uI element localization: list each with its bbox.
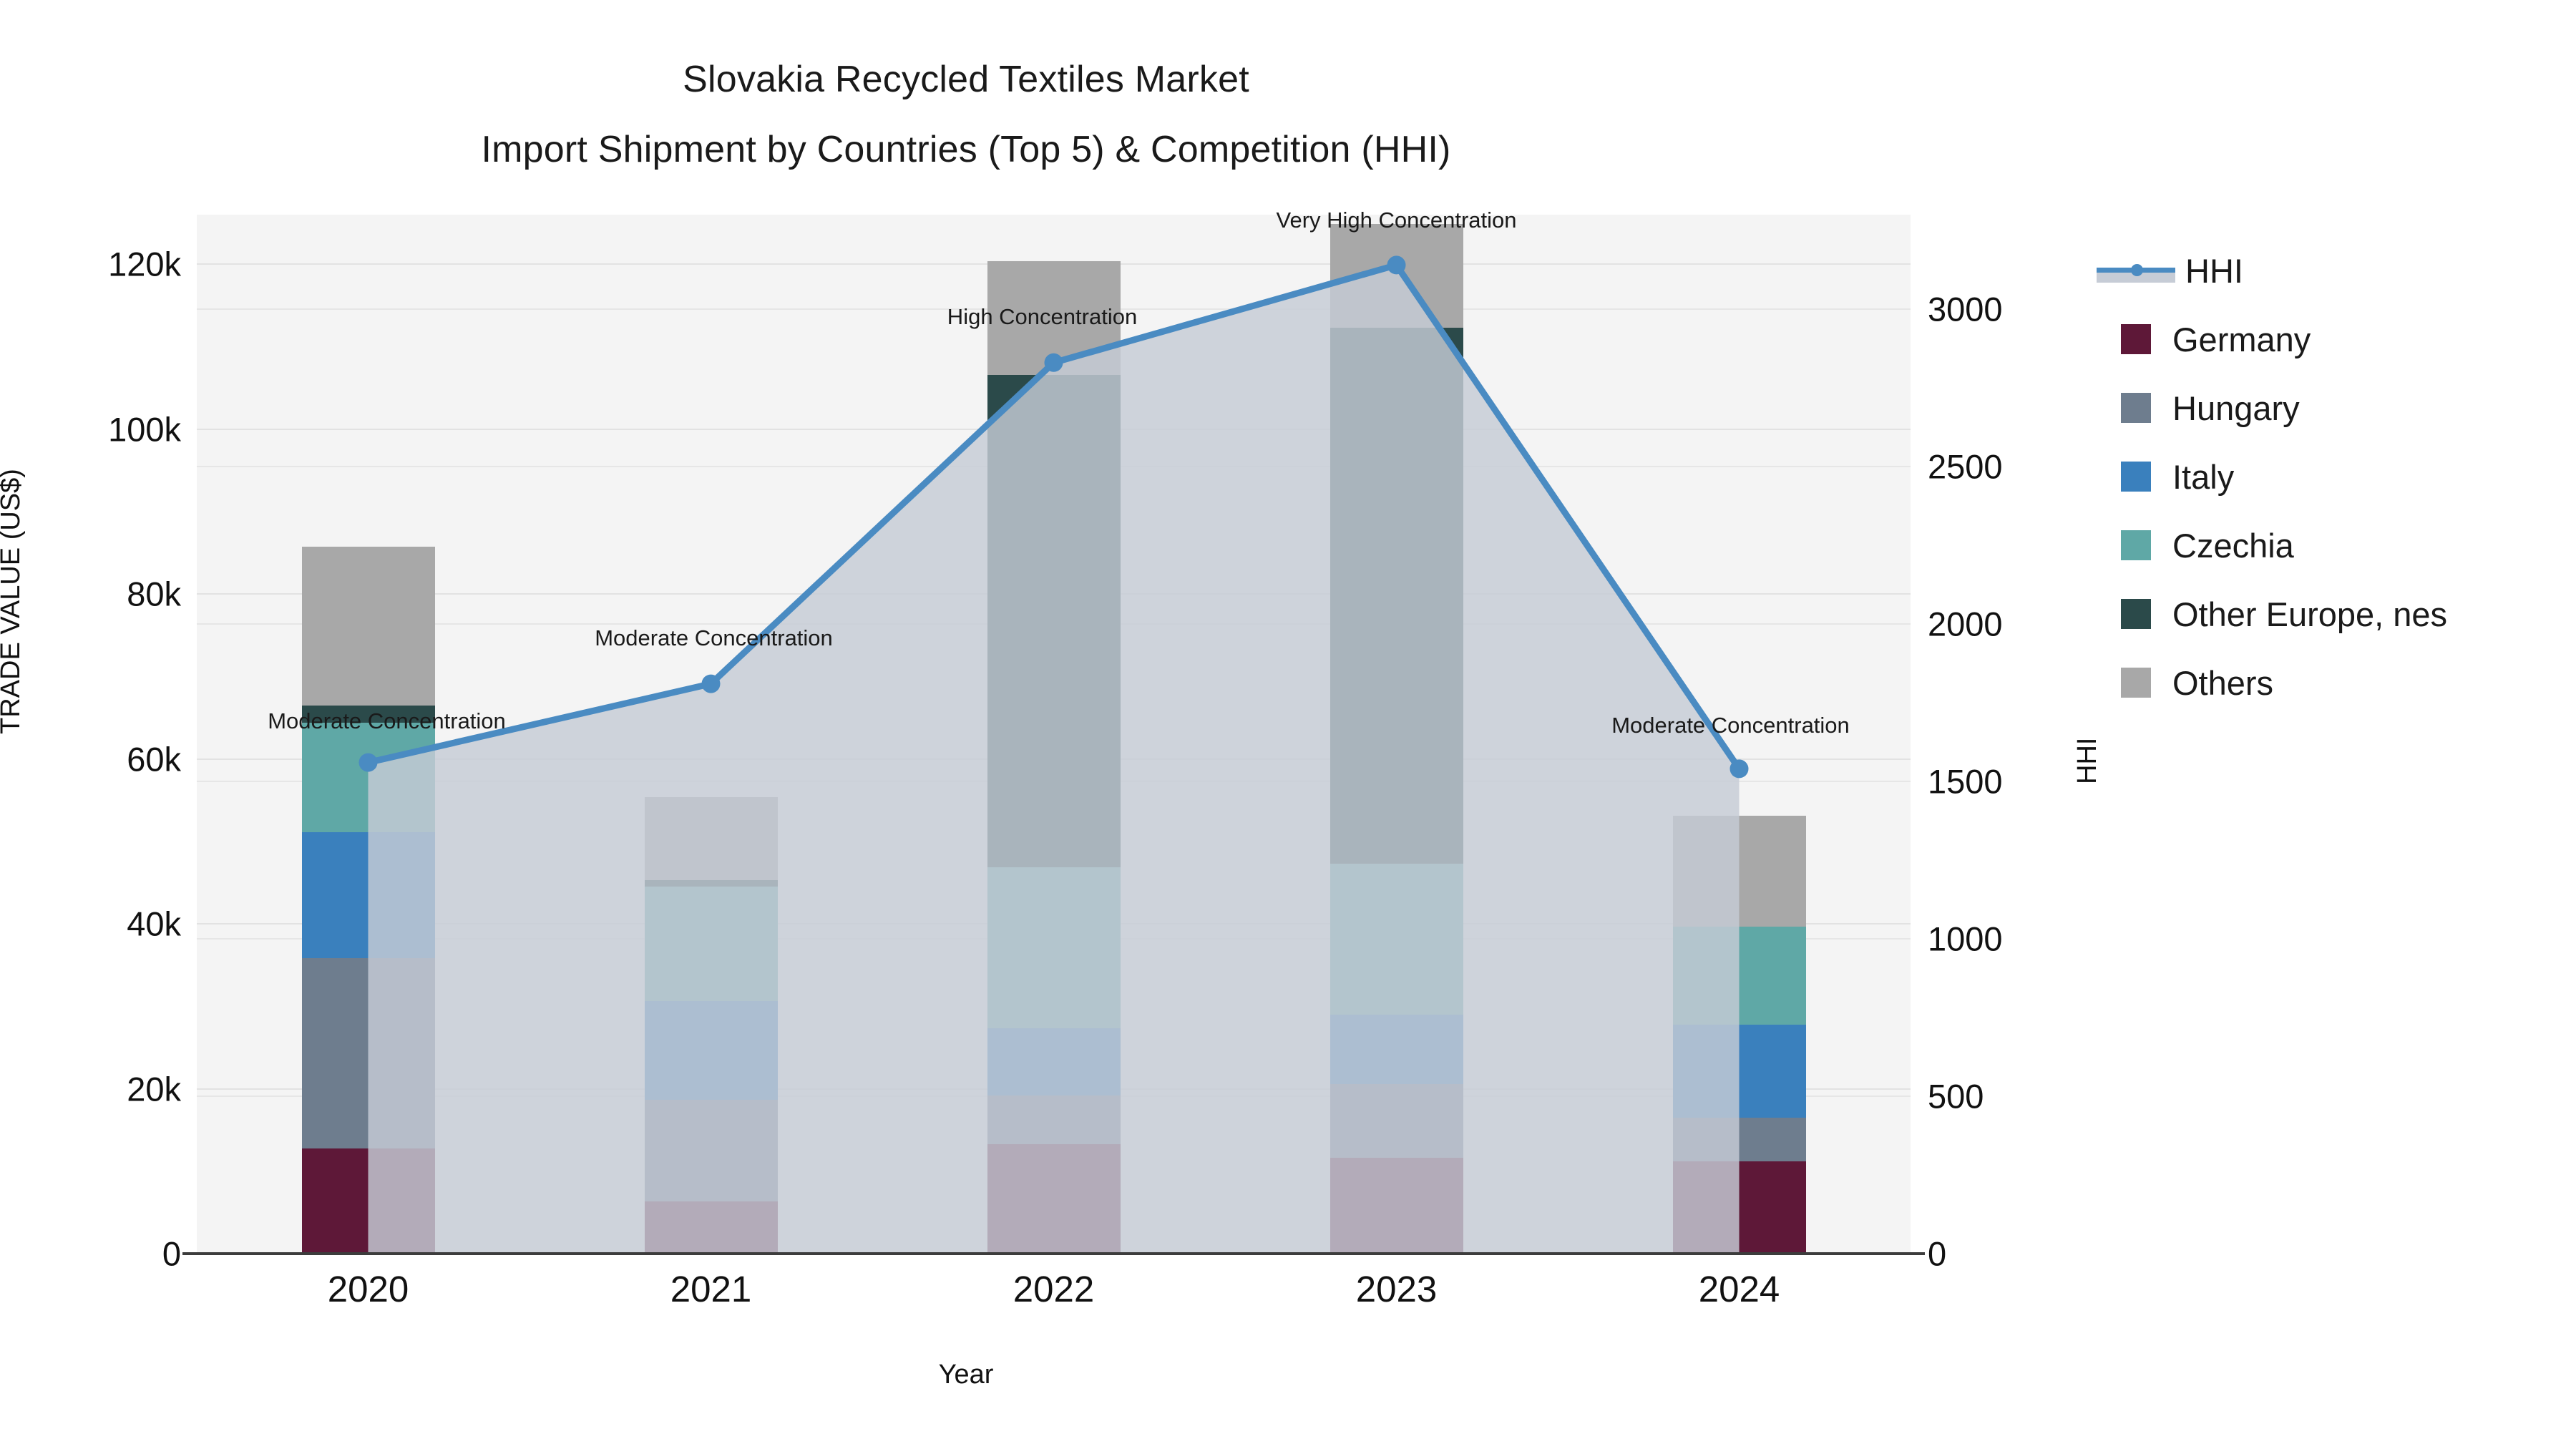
x-axis-title: Year xyxy=(0,1360,1932,1390)
hhi-line-icon xyxy=(2097,255,2175,286)
chart-figure: Slovakia Recycled Textiles Market Import… xyxy=(0,0,2576,1449)
legend-label: HHI xyxy=(2185,254,2243,288)
hhi-marker-2024[interactable]: HHI 2024: 1540 xyxy=(1730,759,1749,778)
legend-item-others[interactable]: Others xyxy=(2097,648,2447,717)
y-tick-label: 0 xyxy=(162,1234,181,1274)
hhi-marker-icon xyxy=(2131,264,2143,276)
y2-tick-label: 2500 xyxy=(1928,447,2003,487)
legend-label: Others xyxy=(2172,666,2273,700)
hhi-marker-2020[interactable]: HHI 2020: 1560 xyxy=(359,753,378,772)
legend: HHIGermanyHungaryItalyCzechiaOther Europ… xyxy=(2097,236,2447,717)
y2-tick-label: 500 xyxy=(1928,1077,1984,1116)
y-tick-label: 100k xyxy=(108,409,181,449)
x-axis-line xyxy=(182,1252,1925,1255)
y2-tick-label: 1000 xyxy=(1928,919,2003,959)
legend-label: Germany xyxy=(2172,323,2311,356)
x-tick-label-2020: 2020 xyxy=(328,1268,409,1310)
hhi-marker-2023[interactable]: HHI 2023: 3140 xyxy=(1387,255,1406,274)
hhi-marker-2022[interactable]: HHI 2022: 2830 xyxy=(1045,353,1063,372)
legend-swatch-icon xyxy=(2121,393,2151,423)
hhi-annotation-2023: Very High Concentration xyxy=(1276,208,1516,233)
legend-label: Other Europe, nes xyxy=(2172,597,2447,631)
y-tick-label: 120k xyxy=(108,245,181,284)
y-tick-label: 60k xyxy=(127,739,181,779)
hhi-annotation-2022: High Concentration xyxy=(947,304,1137,330)
legend-item-hungary[interactable]: Hungary xyxy=(2097,374,2447,442)
legend-label: Hungary xyxy=(2172,391,2300,425)
chart-subtitle: Import Shipment by Countries (Top 5) & C… xyxy=(0,114,1932,185)
chart-title: Slovakia Recycled Textiles Market xyxy=(0,44,1932,114)
hhi-annotation-2021: Moderate Concentration xyxy=(595,625,833,651)
x-tick-label-2024: 2024 xyxy=(1699,1268,1780,1310)
legend-swatch-icon xyxy=(2121,668,2151,698)
legend-swatch-icon xyxy=(2121,462,2151,492)
hhi-annotation-2024: Moderate Concentration xyxy=(1611,713,1850,738)
y-tick-label: 80k xyxy=(127,575,181,614)
legend-swatch-icon xyxy=(2121,530,2151,560)
chart-title-block: Slovakia Recycled Textiles Market Import… xyxy=(0,44,1932,185)
y2-tick-label: 0 xyxy=(1928,1234,1946,1274)
legend-label: Czechia xyxy=(2172,529,2294,562)
y2-tick-label: 1500 xyxy=(1928,762,2003,801)
y-axis-title: TRADE VALUE (US$) xyxy=(0,469,26,734)
x-tick-label-2023: 2023 xyxy=(1356,1268,1437,1310)
x-tick-label-2022: 2022 xyxy=(1013,1268,1094,1310)
hhi-marker-2021[interactable]: HHI 2021: 1810 xyxy=(702,675,721,693)
x-tick-label-2021: 2021 xyxy=(670,1268,751,1310)
legend-swatch-icon xyxy=(2121,599,2151,629)
legend-swatch-icon xyxy=(2121,324,2151,354)
y2-axis-title: HHI xyxy=(2072,738,2103,784)
legend-item-czechia[interactable]: Czechia xyxy=(2097,511,2447,580)
y2-tick-label: 2000 xyxy=(1928,605,2003,644)
legend-item-italy[interactable]: Italy xyxy=(2097,442,2447,511)
y2-tick-label: 3000 xyxy=(1928,290,2003,329)
hhi-annotation-2020: Moderate Concentration xyxy=(268,708,506,734)
legend-item-other-europe-nes[interactable]: Other Europe, nes xyxy=(2097,580,2447,648)
y-tick-label: 20k xyxy=(127,1069,181,1108)
hhi-area-fill xyxy=(369,265,1740,1254)
legend-item-hhi[interactable]: HHI xyxy=(2097,236,2447,305)
legend-item-germany[interactable]: Germany xyxy=(2097,305,2447,374)
y-tick-label: 40k xyxy=(127,904,181,944)
legend-label: Italy xyxy=(2172,460,2234,494)
